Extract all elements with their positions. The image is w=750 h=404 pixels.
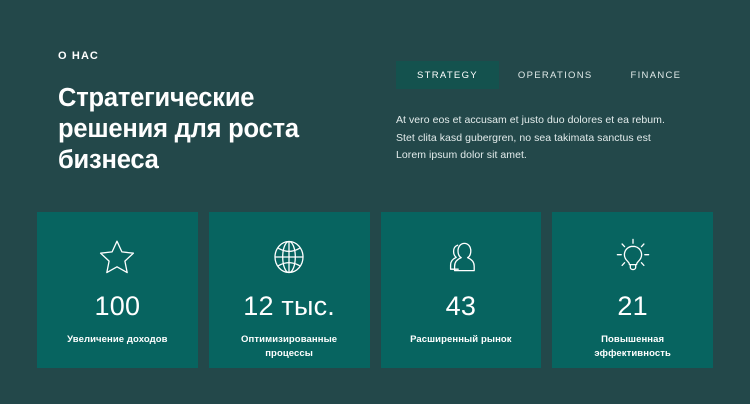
- stats-card-grid: 100 Увеличение доходов 12 тыс. Опт: [37, 212, 713, 368]
- section-eyebrow: О НАС: [58, 49, 358, 63]
- tab-strategy[interactable]: STRATEGY: [396, 61, 499, 89]
- users-icon: [439, 235, 483, 279]
- stat-card-efficiency[interactable]: 21 Повышенная эффективность: [552, 212, 713, 368]
- stat-card-label: Оптимизированные процессы: [219, 333, 359, 361]
- top-area: О НАС Стратегические решения для роста б…: [0, 0, 750, 200]
- stat-card-value: 100: [95, 290, 141, 322]
- stat-card-market[interactable]: 43 Расширенный рынок: [381, 212, 542, 368]
- lightbulb-icon: [611, 235, 655, 279]
- tab-operations[interactable]: OPERATIONS: [499, 61, 612, 89]
- tab-list: STRATEGY OPERATIONS FINANCE: [396, 61, 696, 89]
- stat-card-label: Расширенный рынок: [410, 333, 512, 347]
- intro-block: О НАС Стратегические решения для роста б…: [58, 49, 358, 176]
- page-title: Стратегические решения для роста бизнеса: [58, 83, 348, 176]
- stat-card-label: Повышенная эффективность: [563, 333, 703, 361]
- stat-card-processes[interactable]: 12 тыс. Оптимизированные процессы: [209, 212, 370, 368]
- about-us-section: О НАС Стратегические решения для роста б…: [0, 0, 750, 404]
- tab-finance[interactable]: FINANCE: [612, 61, 701, 89]
- globe-icon: [267, 235, 311, 279]
- stat-card-value: 21: [617, 290, 647, 322]
- tab-panel: STRATEGY OPERATIONS FINANCE At vero eos …: [396, 61, 696, 165]
- tab-panel-body-text: At vero eos et accusam et justo duo dolo…: [396, 112, 668, 165]
- stat-card-label: Увеличение доходов: [67, 333, 168, 347]
- stat-card-value: 43: [446, 290, 476, 322]
- stat-card-value: 12 тыс.: [243, 290, 335, 322]
- stat-card-revenue[interactable]: 100 Увеличение доходов: [37, 212, 198, 368]
- star-icon: [95, 235, 139, 279]
